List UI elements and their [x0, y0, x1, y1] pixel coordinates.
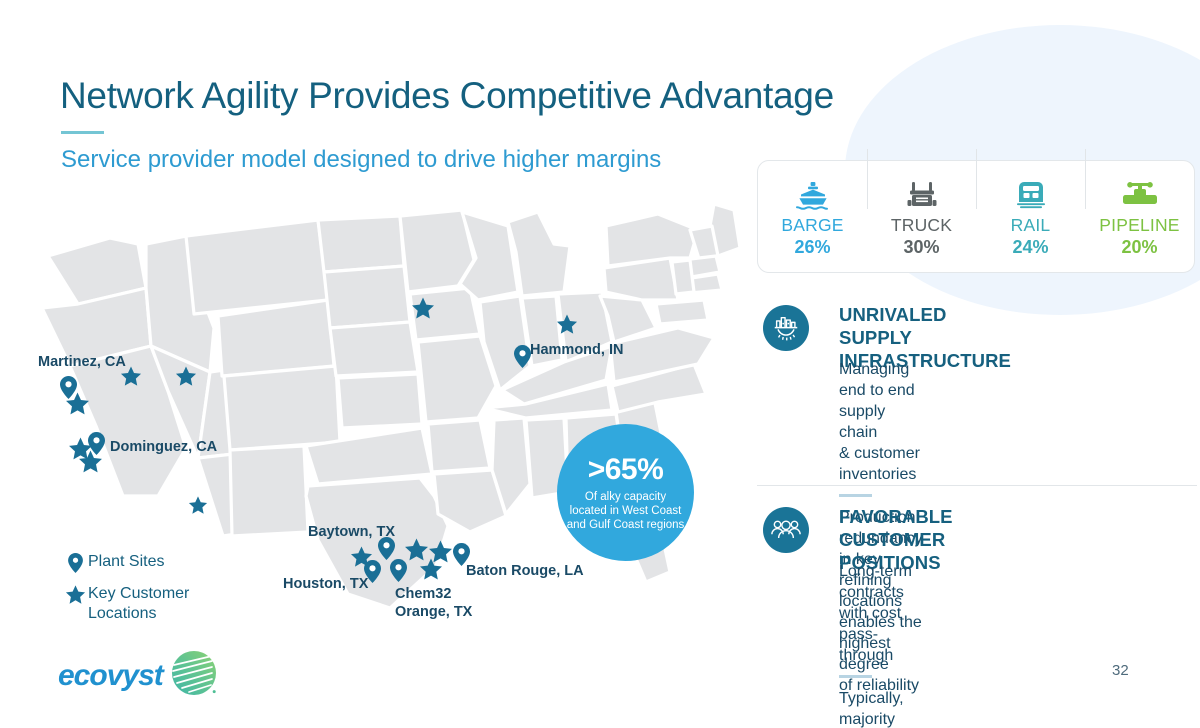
pin-icon	[62, 552, 88, 573]
mode-pipeline: PIPELINE 20%	[1085, 176, 1194, 258]
page-subtitle: Service provider model designed to drive…	[61, 143, 661, 177]
mode-name-truck: TRUCK	[891, 215, 952, 236]
customer-star[interactable]	[65, 392, 90, 421]
bullet-text: Managing end to end supply chain & custo…	[839, 359, 923, 485]
pipeline-icon	[1121, 176, 1159, 210]
page-title: Network Agility Provides Competitive Adv…	[60, 72, 834, 120]
star-icon	[62, 584, 88, 605]
mode-value-barge: 26%	[794, 237, 830, 258]
section-body-favorable: Long-term contracts with cost pass-throu…	[839, 561, 918, 728]
callout-caption: Of alky capacity located in West Coast a…	[557, 490, 694, 532]
bullet-divider	[839, 494, 872, 497]
bullet-text: Long-term contracts with cost pass-throu…	[839, 561, 918, 666]
label-baytown: Baytown, TX	[308, 524, 395, 541]
legend-label-key-customers: Key Customer Locations	[88, 584, 198, 624]
mode-truck: TRUCK 30%	[867, 176, 976, 258]
customer-star[interactable]	[350, 546, 373, 573]
plant-pin-hammond[interactable]	[514, 345, 531, 373]
mode-barge: BARGE 26%	[758, 176, 867, 258]
page-number: 32	[1112, 662, 1129, 679]
section-separator	[757, 485, 1197, 486]
legend-item-plant-sites: Plant Sites	[62, 552, 198, 573]
mode-name-pipeline: PIPELINE	[1099, 215, 1179, 236]
logo-wordmark: ecovyst	[58, 659, 163, 693]
label-chem32: Chem32	[395, 586, 451, 603]
map-legend: Plant Sites Key Customer Locations	[62, 552, 198, 635]
label-houston: Houston, TX	[283, 576, 368, 593]
legend-label-plant-sites: Plant Sites	[88, 552, 164, 572]
callout-value: >65%	[588, 454, 664, 486]
label-orange: Orange, TX	[395, 604, 472, 621]
label-baton-rouge: Baton Rouge, LA	[466, 563, 584, 580]
rail-icon	[1015, 176, 1047, 210]
factory-gear-icon	[763, 305, 809, 351]
callout-bubble: >65% Of alky capacity located in West Co…	[557, 424, 694, 561]
customer-star[interactable]	[411, 297, 435, 325]
ecovyst-logo: ecovyst	[58, 650, 217, 701]
mode-rail: RAIL 24%	[976, 176, 1085, 258]
customer-star[interactable]	[556, 314, 578, 340]
legend-item-key-customers: Key Customer Locations	[62, 584, 198, 624]
customer-star[interactable]	[419, 558, 443, 586]
mode-value-pipeline: 20%	[1121, 237, 1157, 258]
customer-star[interactable]	[78, 450, 103, 479]
title-divider	[61, 131, 104, 134]
mode-value-truck: 30%	[903, 237, 939, 258]
label-hammond: Hammond, IN	[530, 342, 623, 359]
truck-icon	[905, 176, 939, 210]
bullet-text: Typically, majority share of supply for …	[839, 688, 918, 728]
label-dominguez: Dominguez, CA	[110, 439, 217, 456]
barge-icon	[795, 176, 831, 210]
customer-star[interactable]	[175, 366, 197, 392]
people-group-icon	[763, 507, 809, 553]
transport-modes-card: BARGE 26% TRUCK 30%	[757, 160, 1195, 273]
bullet-divider	[839, 675, 872, 678]
sunburst-circle-icon	[171, 650, 217, 701]
heading-line-1: FAVORABLE CUSTOMER	[839, 505, 953, 551]
label-martinez: Martinez, CA	[38, 354, 126, 371]
customer-star[interactable]	[188, 496, 208, 520]
mode-value-rail: 24%	[1012, 237, 1048, 258]
slide-root: Network Agility Provides Competitive Adv…	[0, 0, 1200, 728]
mode-name-barge: BARGE	[781, 215, 843, 236]
mode-name-rail: RAIL	[1011, 215, 1051, 236]
heading-line-1: UNRIVALED SUPPLY	[839, 303, 1011, 349]
